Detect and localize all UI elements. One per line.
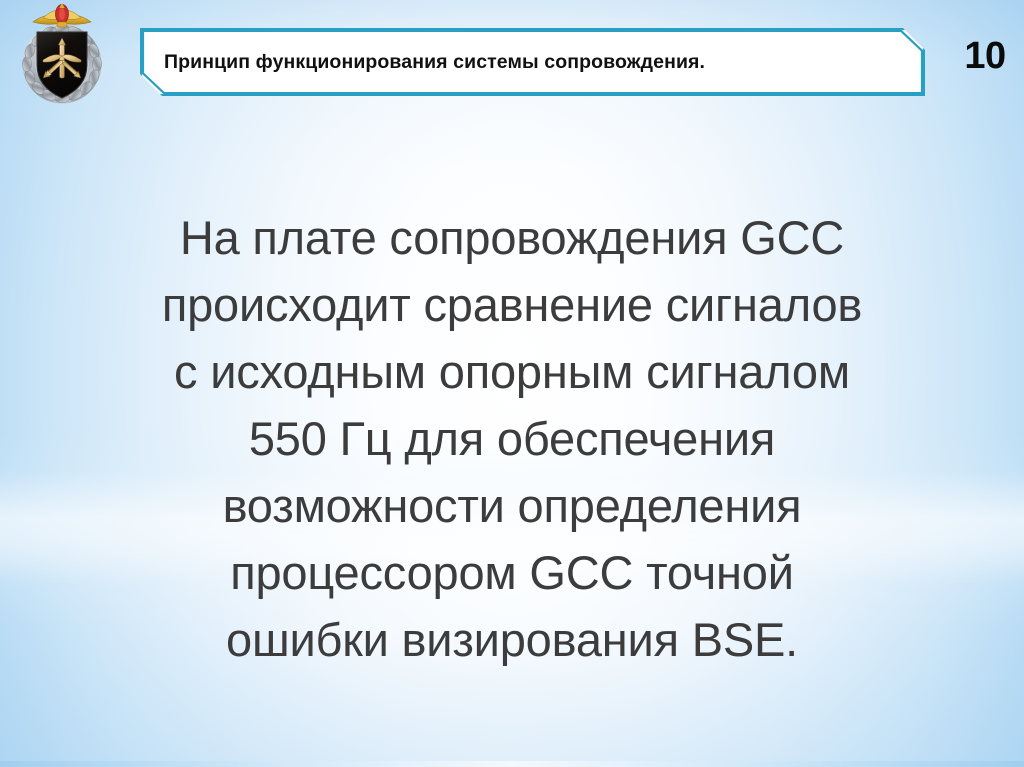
body-line: процессором GCC точной (64, 539, 960, 606)
body-line: 550 Гц для обеспечения (64, 405, 960, 472)
presentation-slide: Принцип функционирования системы сопрово… (0, 0, 1024, 767)
body-line: возможности определения (64, 472, 960, 539)
slide-body-text: На плате сопровождения GCC происходит ср… (64, 204, 960, 673)
body-line: происходит сравнение сигналов (64, 271, 960, 338)
body-line: с исходным опорным сигналом (64, 338, 960, 405)
slide-number: 10 (952, 30, 1018, 82)
slide-background-bottom-edge (0, 761, 1024, 767)
body-line: На плате сопровождения GCC (64, 204, 960, 271)
body-line: ошибки визирования BSE. (64, 606, 960, 673)
crest-topper (33, 3, 91, 27)
slide-title: Принцип функционирования системы сопрово… (164, 28, 909, 96)
military-emblem-icon (13, 2, 111, 106)
